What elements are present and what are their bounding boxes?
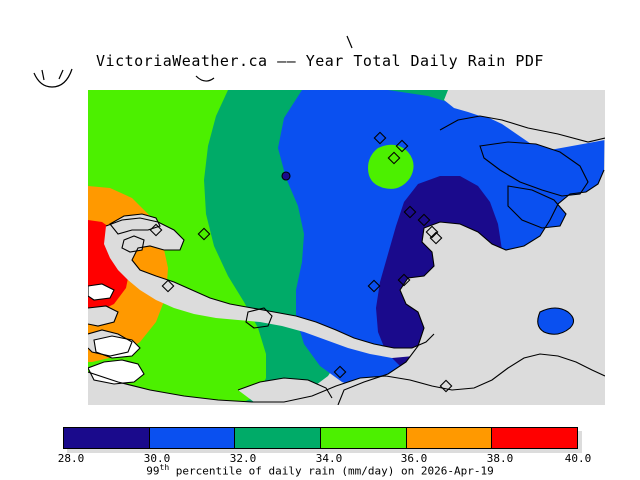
colorbar-band-30-32 bbox=[150, 428, 236, 448]
colorbar[interactable] bbox=[63, 427, 578, 449]
stray-coastline-fragments bbox=[0, 0, 640, 100]
colorbar-band-34-36 bbox=[321, 428, 407, 448]
map-panel[interactable] bbox=[88, 90, 605, 405]
colorbar-band-36-38 bbox=[407, 428, 493, 448]
colorbar-caption: 99th percentile of daily rain (mm/day) o… bbox=[0, 463, 640, 478]
contour-map bbox=[88, 90, 605, 405]
colorbar-band-32-34 bbox=[235, 428, 321, 448]
caption-prefix: 99 bbox=[146, 465, 159, 478]
colorbar-container bbox=[63, 427, 578, 449]
page-title: VictoriaWeather.ca —— Year Total Daily R… bbox=[0, 52, 640, 70]
caption-superscript: th bbox=[160, 463, 170, 472]
station-marker-filled bbox=[282, 172, 290, 180]
colorbar-band-28-30 bbox=[64, 428, 150, 448]
caption-suffix: percentile of daily rain (mm/day) on 202… bbox=[169, 465, 494, 478]
weather-map-page: VictoriaWeather.ca —— Year Total Daily R… bbox=[0, 0, 640, 480]
colorbar-band-38-40 bbox=[492, 428, 577, 448]
